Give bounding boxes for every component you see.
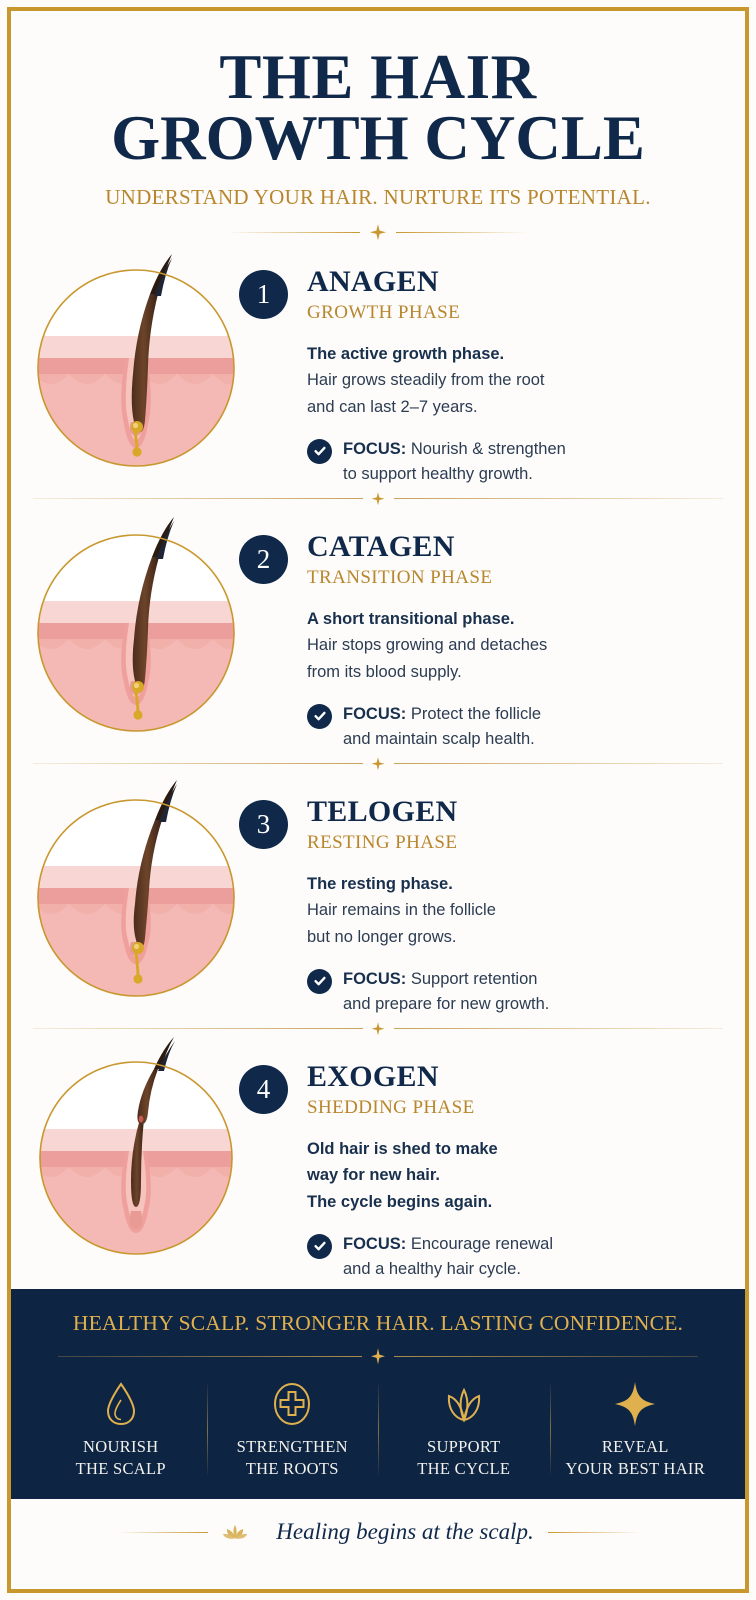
- focus-line-2: and a healthy hair cycle.: [343, 1260, 521, 1278]
- pillar-label: STRENGTHEN THE ROOTS: [211, 1436, 375, 1479]
- four-point-star-icon: [370, 224, 386, 240]
- header: THE HAIR GROWTH CYCLE UNDERSTAND YOUR HA…: [7, 7, 749, 240]
- focus-line-1: Protect the follicle: [406, 705, 541, 723]
- diamond-icon: [372, 1022, 385, 1035]
- phase-lead-line: The active growth phase.: [307, 341, 715, 368]
- title-line-1: THE HAIR: [47, 47, 709, 108]
- pillar-support: SUPPORT THE CYCLE: [378, 1378, 550, 1479]
- phase-description: The active growth phase. Hair grows stea…: [307, 341, 715, 421]
- follicle-telogen-illustration: [33, 770, 239, 1020]
- phase-focus: FOCUS: Nourish & strengthento support he…: [307, 437, 715, 487]
- tagline-footer: Healing begins at the scalp.: [7, 1499, 749, 1545]
- focus-text: FOCUS: Support retentionand prepare for …: [343, 967, 549, 1017]
- page-title: THE HAIR GROWTH CYCLE: [47, 47, 709, 169]
- phase-desc-line: Hair remains in the follicle: [307, 897, 715, 924]
- focus-label: FOCUS:: [343, 1235, 406, 1253]
- phase-focus: FOCUS: Protect the follicleand maintain …: [307, 702, 715, 752]
- focus-line-2: to support healthy growth.: [343, 465, 533, 483]
- pillar-nourish: NOURISH THE SCALP: [35, 1378, 207, 1479]
- page-subtitle: UNDERSTAND YOUR HAIR. NURTURE ITS POTENT…: [47, 185, 709, 210]
- pillar-label: NOURISH THE SCALP: [39, 1436, 203, 1479]
- phase-item: 1 ANAGEN GROWTH PHASE The active growth …: [7, 240, 749, 490]
- phase-subtitle: SHEDDING PHASE: [307, 1097, 715, 1119]
- phase-name: ANAGEN: [307, 266, 715, 298]
- pillar-label: REVEAL YOUR BEST HAIR: [554, 1436, 718, 1479]
- phase-desc-line: and can last 2–7 years.: [307, 394, 715, 421]
- phase-number-badge: 2: [239, 535, 288, 584]
- pillar-label: SUPPORT THE CYCLE: [382, 1436, 546, 1479]
- focus-line-2: and prepare for new growth.: [343, 995, 549, 1013]
- droplet-icon: [39, 1378, 203, 1430]
- phase-subtitle: GROWTH PHASE: [307, 302, 715, 324]
- pillar-label-line-1: REVEAL: [554, 1436, 718, 1457]
- band-ornament-line-left: [58, 1356, 362, 1357]
- check-icon: [307, 1234, 332, 1259]
- phase-number-badge: 3: [239, 800, 288, 849]
- phase-desc-line: Hair stops growing and detaches: [307, 632, 715, 659]
- plus-circle-icon: [211, 1378, 375, 1430]
- tagline-text: Healing begins at the scalp.: [276, 1519, 533, 1545]
- phase-desc-line: way for new hair.: [307, 1162, 715, 1189]
- four-point-star-icon: [371, 1348, 385, 1364]
- focus-label: FOCUS:: [343, 970, 406, 988]
- diamond-icon: [372, 492, 385, 505]
- phase-subtitle: TRANSITION PHASE: [307, 567, 715, 589]
- phase-item: 4 EXOGEN SHEDDING PHASE Old hair is shed…: [7, 1035, 749, 1281]
- separator-line-right: [394, 1028, 724, 1029]
- band-ornament-divider: [58, 1348, 698, 1364]
- title-line-2: GROWTH CYCLE: [47, 108, 709, 169]
- infographic-page: THE HAIR GROWTH CYCLE UNDERSTAND YOUR HA…: [0, 0, 756, 1600]
- phase-lead-line: Old hair is shed to make: [307, 1136, 715, 1163]
- phase-desc-line: but no longer grows.: [307, 924, 715, 951]
- check-icon: [307, 439, 332, 464]
- band-ornament-line-right: [394, 1356, 698, 1357]
- phase-focus: FOCUS: Support retentionand prepare for …: [307, 967, 715, 1017]
- phase-lead-line: A short transitional phase.: [307, 606, 715, 633]
- pillar-label-line-1: STRENGTHEN: [211, 1436, 375, 1457]
- pillar-label-line-2: YOUR BEST HAIR: [554, 1458, 718, 1479]
- follicle-catagen-illustration: [33, 505, 239, 755]
- separator-line-right: [394, 763, 724, 764]
- check-icon: [307, 704, 332, 729]
- ornament-line-left: [228, 232, 360, 233]
- ornament-line-right: [396, 232, 528, 233]
- phase-desc-line: The cycle begins again.: [307, 1189, 715, 1216]
- phase-lead-line: The resting phase.: [307, 871, 715, 898]
- tagline-line-left: [116, 1532, 208, 1533]
- phase-subtitle: RESTING PHASE: [307, 832, 715, 854]
- phase-list: 1 ANAGEN GROWTH PHASE The active growth …: [7, 240, 749, 1281]
- pillar-label-line-1: SUPPORT: [382, 1436, 546, 1457]
- phase-item: 2 CATAGEN TRANSITION PHASE A short trans…: [7, 505, 749, 755]
- focus-text: FOCUS: Nourish & strengthento support he…: [343, 437, 566, 487]
- sparkle-icon: [554, 1378, 718, 1430]
- phase-separator: [33, 492, 723, 505]
- phase-description: The resting phase. Hair remains in the f…: [307, 871, 715, 951]
- lotus-icon: [222, 1522, 248, 1542]
- band-title: HEALTHY SCALP. STRONGER HAIR. LASTING CO…: [35, 1311, 721, 1336]
- pillar-strengthen: STRENGTHEN THE ROOTS: [207, 1378, 379, 1479]
- focus-text: FOCUS: Encourage renewaland a healthy ha…: [343, 1232, 553, 1282]
- phase-separator: [33, 1022, 723, 1035]
- separator-line-left: [33, 498, 363, 499]
- tagline-line-right: [548, 1532, 640, 1533]
- focus-line-1: Nourish & strengthen: [406, 440, 566, 458]
- phase-item: 3 TELOGEN RESTING PHASE The resting phas…: [7, 770, 749, 1020]
- follicle-exogen-illustration: [33, 1035, 239, 1275]
- separator-line-left: [33, 763, 363, 764]
- focus-label: FOCUS:: [343, 705, 406, 723]
- phase-desc-line: Hair grows steadily from the root: [307, 367, 715, 394]
- pillar-label-line-1: NOURISH: [39, 1436, 203, 1457]
- phase-number-badge: 4: [239, 1065, 288, 1114]
- phase-name: CATAGEN: [307, 531, 715, 563]
- leaf-icon: [382, 1378, 546, 1430]
- phase-focus: FOCUS: Encourage renewaland a healthy ha…: [307, 1232, 715, 1282]
- focus-line-1: Support retention: [406, 970, 537, 988]
- phase-number-badge: 1: [239, 270, 288, 319]
- phase-desc-line: from its blood supply.: [307, 659, 715, 686]
- phase-description: Old hair is shed to make way for new hai…: [307, 1136, 715, 1216]
- focus-label: FOCUS:: [343, 440, 406, 458]
- diamond-icon: [372, 757, 385, 770]
- pillar-reveal: REVEAL YOUR BEST HAIR: [550, 1378, 722, 1479]
- focus-line-2: and maintain scalp health.: [343, 730, 535, 748]
- focus-text: FOCUS: Protect the follicleand maintain …: [343, 702, 541, 752]
- benefits-band: HEALTHY SCALP. STRONGER HAIR. LASTING CO…: [7, 1289, 749, 1499]
- phase-name: EXOGEN: [307, 1061, 715, 1093]
- follicle-anagen-illustration: [33, 240, 239, 490]
- header-ornament-divider: [228, 224, 528, 240]
- pillar-label-line-2: THE CYCLE: [382, 1458, 546, 1479]
- pillar-list: NOURISH THE SCALP STRENGTHEN THE ROOTS: [35, 1378, 721, 1479]
- focus-line-1: Encourage renewal: [406, 1235, 553, 1253]
- pillar-label-line-2: THE SCALP: [39, 1458, 203, 1479]
- separator-line-left: [33, 1028, 363, 1029]
- pillar-label-line-2: THE ROOTS: [211, 1458, 375, 1479]
- check-icon: [307, 969, 332, 994]
- separator-line-right: [394, 498, 724, 499]
- phase-description: A short transitional phase. Hair stops g…: [307, 606, 715, 686]
- phase-separator: [33, 757, 723, 770]
- phase-name: TELOGEN: [307, 796, 715, 828]
